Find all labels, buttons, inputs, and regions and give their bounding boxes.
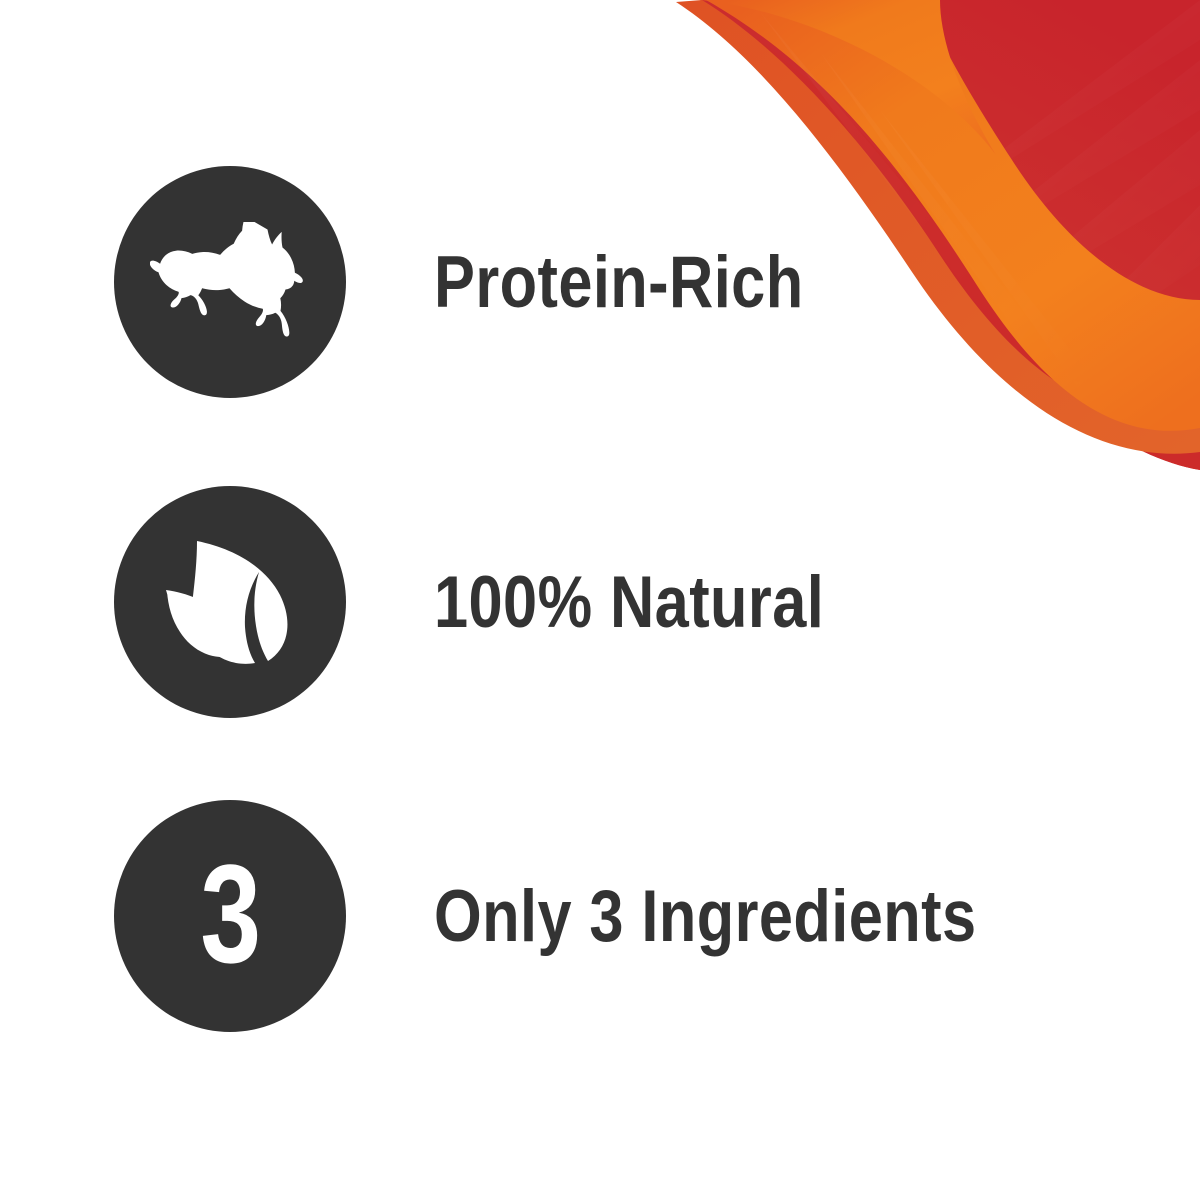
jumping-dog-icon	[150, 222, 310, 342]
benefit-row: Protein-Rich	[114, 166, 874, 398]
benefit-label-ingredients: Only 3 Ingredients	[434, 880, 977, 953]
leaf-icon	[150, 522, 310, 682]
benefit-label-protein: Protein-Rich	[434, 246, 804, 319]
benefit-row: 100% Natural	[114, 486, 899, 718]
benefit-badge-ingredients: 3	[114, 800, 346, 1032]
benefit-label-natural: 100% Natural	[434, 566, 824, 639]
benefit-badge-protein	[114, 166, 346, 398]
benefit-row: 3 Only 3 Ingredients	[114, 800, 1080, 1032]
benefit-badge-natural	[114, 486, 346, 718]
benefits-panel: Protein-Rich 100% Natural 3 Only 3 Ingre…	[0, 0, 1200, 1200]
number-three-icon: 3	[200, 844, 259, 984]
